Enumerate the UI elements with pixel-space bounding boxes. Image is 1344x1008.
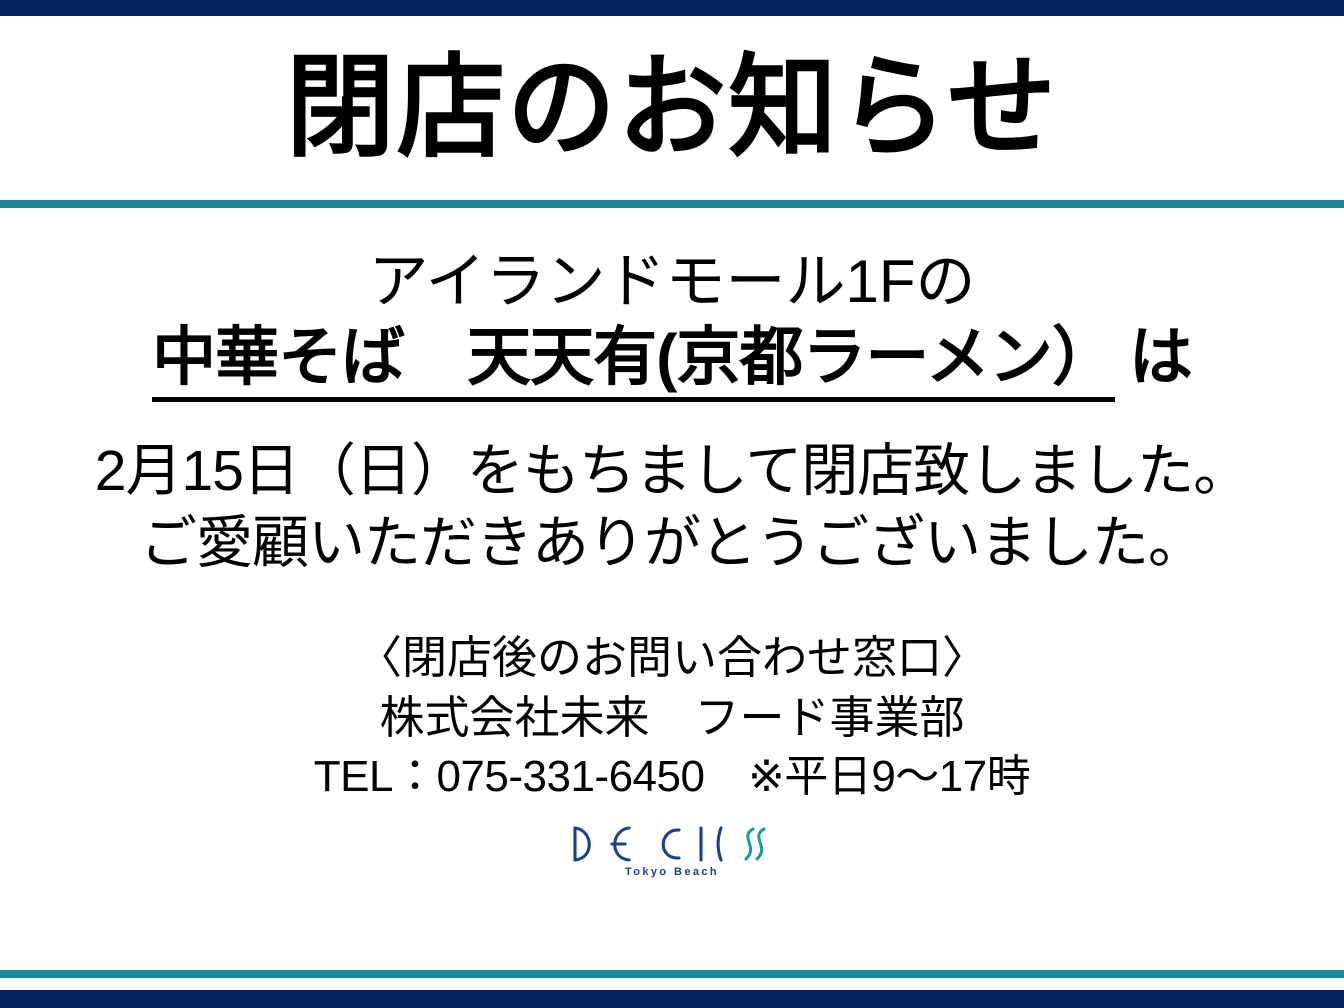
shop-name-line: 中華そば 天天有(京都ラーメン）は [152, 323, 1192, 392]
closing-date-line: 2月15日（日）をもちまして閉店致しました。 [95, 436, 1249, 508]
telephone-line: TEL：075-331-6450 ※平日9〜17時 [314, 748, 1031, 807]
closing-statement-block: 2月15日（日）をもちまして閉店致しました。 ご愛顧いただきありがとうございまし… [95, 436, 1249, 580]
closing-notice-poster: 閉店のお知らせ アイランドモール1Fの 中華そば 天天有(京都ラーメン）は 2月… [0, 0, 1344, 1008]
bottom-white-gap [0, 978, 1344, 990]
title-teal-rule [0, 200, 1344, 208]
page-title: 閉店のお知らせ [286, 52, 1058, 164]
decks-logo: Tokyo Beach [567, 823, 777, 878]
contact-heading: 〈閉店後のお問い合わせ窓口〉 [314, 628, 1031, 688]
contact-block: 〈閉店後のお問い合わせ窓口〉 株式会社未来 フード事業部 TEL：075-331… [314, 628, 1031, 808]
shop-name: 中華そば 天天有(京都ラーメン） [152, 321, 1115, 402]
gratitude-line: ご愛顧いただきありがとうございました。 [95, 508, 1249, 580]
notice-body: アイランドモール1Fの 中華そば 天天有(京都ラーメン）は 2月15日（日）をも… [0, 208, 1344, 970]
bottom-navy-rule [0, 990, 1344, 1008]
decks-logo-mark [567, 823, 777, 865]
company-name: 株式会社未来 フード事業部 [314, 688, 1031, 748]
title-section: 閉店のお知らせ [0, 16, 1344, 200]
shop-identification-block: アイランドモール1Fの 中華そば 天天有(京都ラーメン）は [152, 250, 1192, 392]
bottom-teal-rule [0, 970, 1344, 978]
location-line: アイランドモール1Fの [152, 250, 1192, 315]
top-navy-rule [0, 0, 1344, 16]
decks-wordmark-svg [567, 823, 777, 865]
shop-name-particle: は [1115, 321, 1192, 393]
decks-tagline: Tokyo Beach [625, 866, 719, 878]
